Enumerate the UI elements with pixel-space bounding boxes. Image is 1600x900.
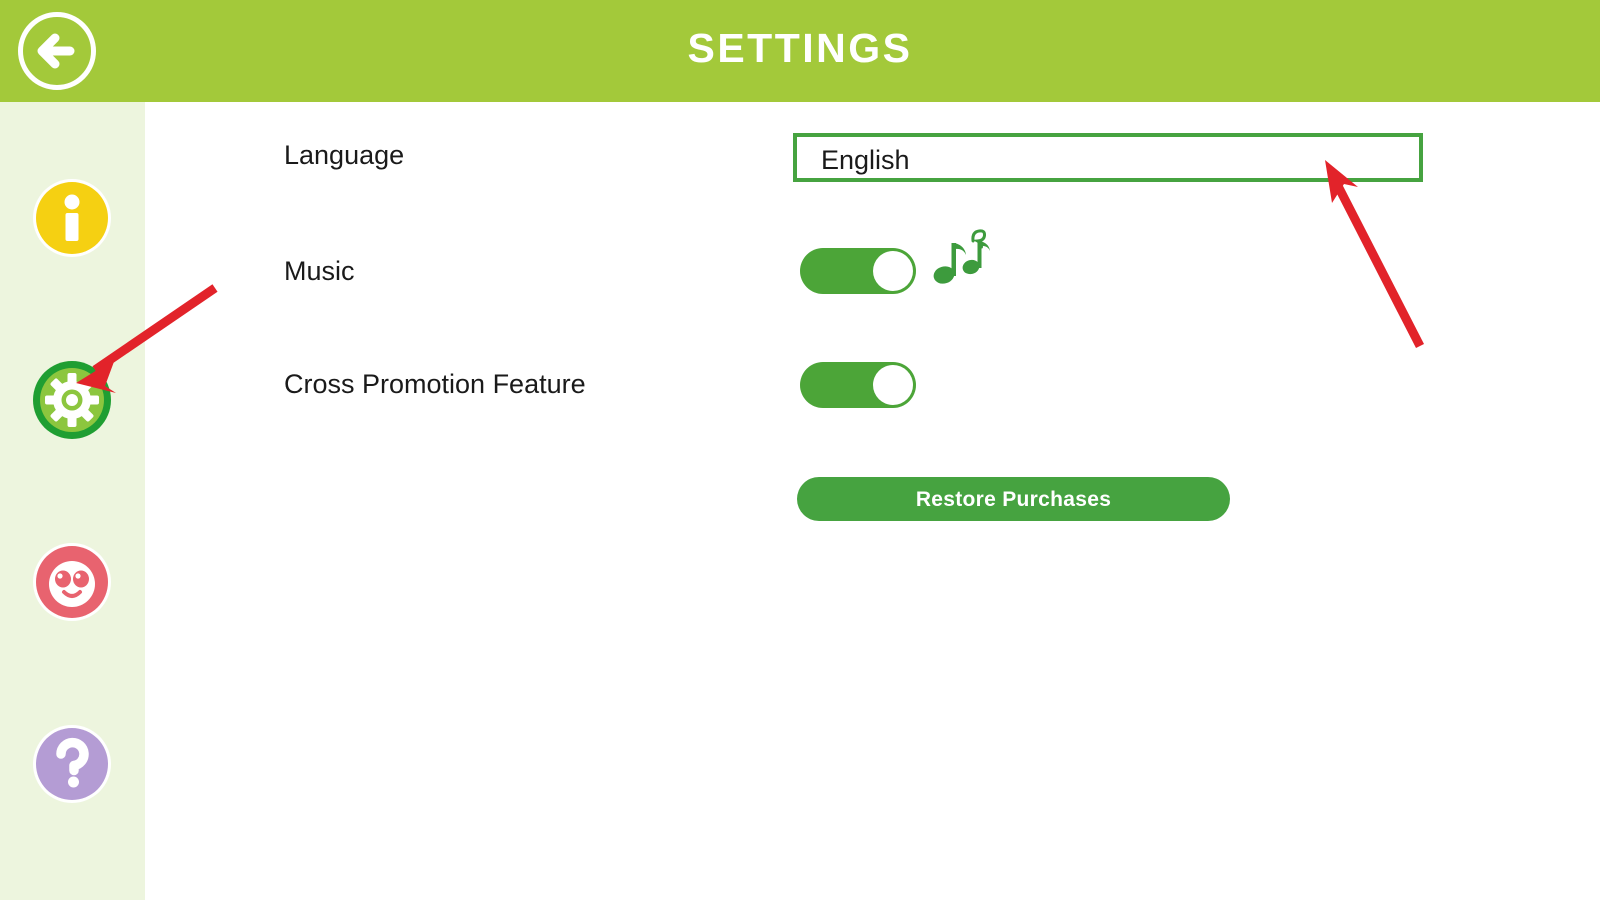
header-bar: SETTINGS (0, 0, 1600, 102)
sidebar-item-characters[interactable] (27, 537, 117, 627)
info-icon (27, 173, 117, 263)
cross-promotion-toggle[interactable] (800, 362, 916, 408)
sidebar-item-info[interactable] (27, 173, 117, 263)
sidebar-item-settings[interactable] (27, 355, 117, 445)
smiley-face-icon (27, 537, 117, 627)
settings-content: Language English Music Cross Promotion F… (145, 102, 1600, 900)
gear-icon (27, 355, 117, 445)
language-value: English (821, 145, 910, 176)
settings-screen: SETTINGS (0, 0, 1600, 900)
cross-promotion-label: Cross Promotion Feature (284, 369, 586, 400)
language-input[interactable]: English (793, 133, 1423, 182)
music-label: Music (284, 256, 355, 287)
music-toggle-knob (873, 251, 913, 291)
sidebar-item-help[interactable] (27, 719, 117, 809)
sidebar (0, 102, 145, 900)
music-notes-icon (933, 227, 997, 289)
music-toggle[interactable] (800, 248, 916, 294)
restore-purchases-label: Restore Purchases (797, 488, 1230, 512)
page-title: SETTINGS (0, 25, 1600, 72)
question-mark-icon (27, 719, 117, 809)
restore-purchases-button[interactable]: Restore Purchases (797, 477, 1230, 521)
cross-promotion-toggle-knob (873, 365, 913, 405)
language-label: Language (284, 140, 404, 171)
